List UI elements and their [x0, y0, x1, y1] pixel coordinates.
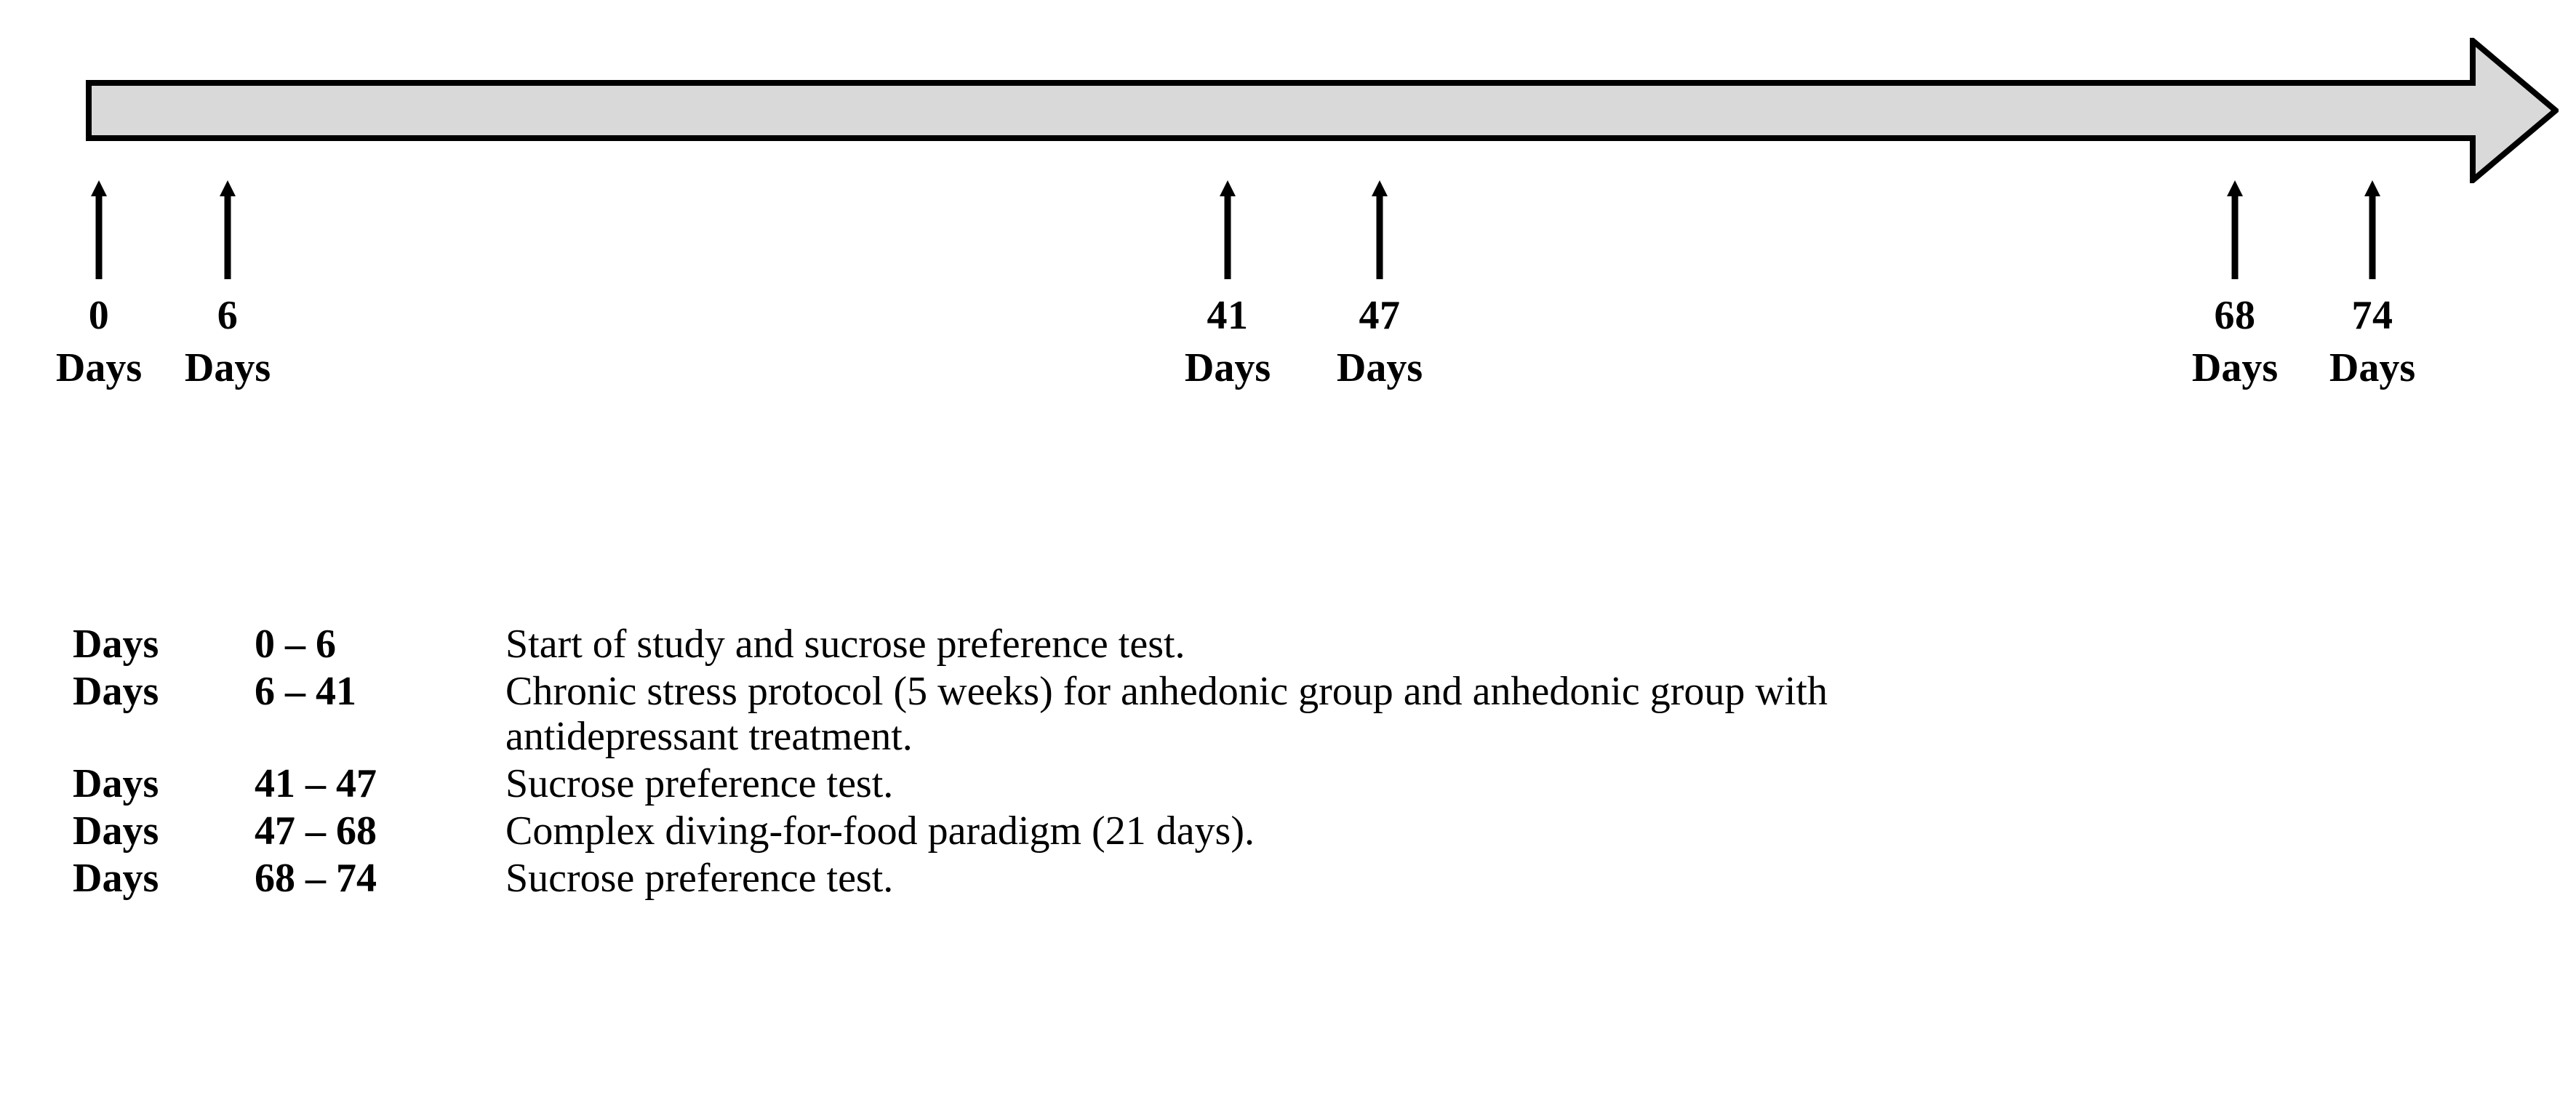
legend-range-label: 41 – 47: [255, 761, 505, 807]
tick-label-5: 74 Days: [2263, 295, 2481, 388]
tick-unit: Days: [1271, 348, 1489, 388]
tick-number: 47: [1271, 295, 1489, 336]
legend-row: Days 6 – 41 Chronic stress protocol (5 w…: [73, 669, 2516, 760]
legend-description: Sucrose preference test.: [505, 856, 2018, 902]
tick-unit: Days: [119, 348, 337, 388]
tick-arrow-5: [2360, 180, 2385, 279]
legend-unit-label: Days: [73, 856, 255, 902]
timeline-arrow: [86, 38, 2559, 183]
tick-arrow-0: [87, 180, 111, 279]
legend-range-label: 47 – 68: [255, 808, 505, 854]
legend-description: Start of study and sucrose preference te…: [505, 622, 2018, 667]
tick-arrow-1: [215, 180, 240, 279]
diagram-canvas: 0 Days 6 Days 41 Days 47 Days 68 Days: [0, 0, 2576, 1100]
legend-row: Days 0 – 6 Start of study and sucrose pr…: [73, 622, 2516, 667]
legend-description: Chronic stress protocol (5 weeks) for an…: [505, 669, 2018, 760]
legend-description: Sucrose preference test.: [505, 761, 2018, 807]
tick-number: 74: [2263, 295, 2481, 336]
tick-number: 6: [119, 295, 337, 336]
tick-arrow-4: [2223, 180, 2247, 279]
tick-label-3: 47 Days: [1271, 295, 1489, 388]
legend-row: Days 47 – 68 Complex diving-for-food par…: [73, 808, 2516, 854]
tick-arrow-2: [1215, 180, 1240, 279]
legend-range-label: 6 – 41: [255, 669, 505, 715]
timeline-legend: Days 0 – 6 Start of study and sucrose pr…: [73, 622, 2516, 902]
tick-arrow-3: [1367, 180, 1392, 279]
tick-unit: Days: [2263, 348, 2481, 388]
tick-label-1: 6 Days: [119, 295, 337, 388]
legend-range-label: 68 – 74: [255, 856, 505, 902]
legend-unit-label: Days: [73, 669, 255, 715]
legend-unit-label: Days: [73, 622, 255, 667]
legend-unit-label: Days: [73, 808, 255, 854]
legend-range-label: 0 – 6: [255, 622, 505, 667]
legend-unit-label: Days: [73, 761, 255, 807]
legend-row: Days 41 – 47 Sucrose preference test.: [73, 761, 2516, 807]
legend-description: Complex diving-for-food paradigm (21 day…: [505, 808, 2018, 854]
legend-row: Days 68 – 74 Sucrose preference test.: [73, 856, 2516, 902]
